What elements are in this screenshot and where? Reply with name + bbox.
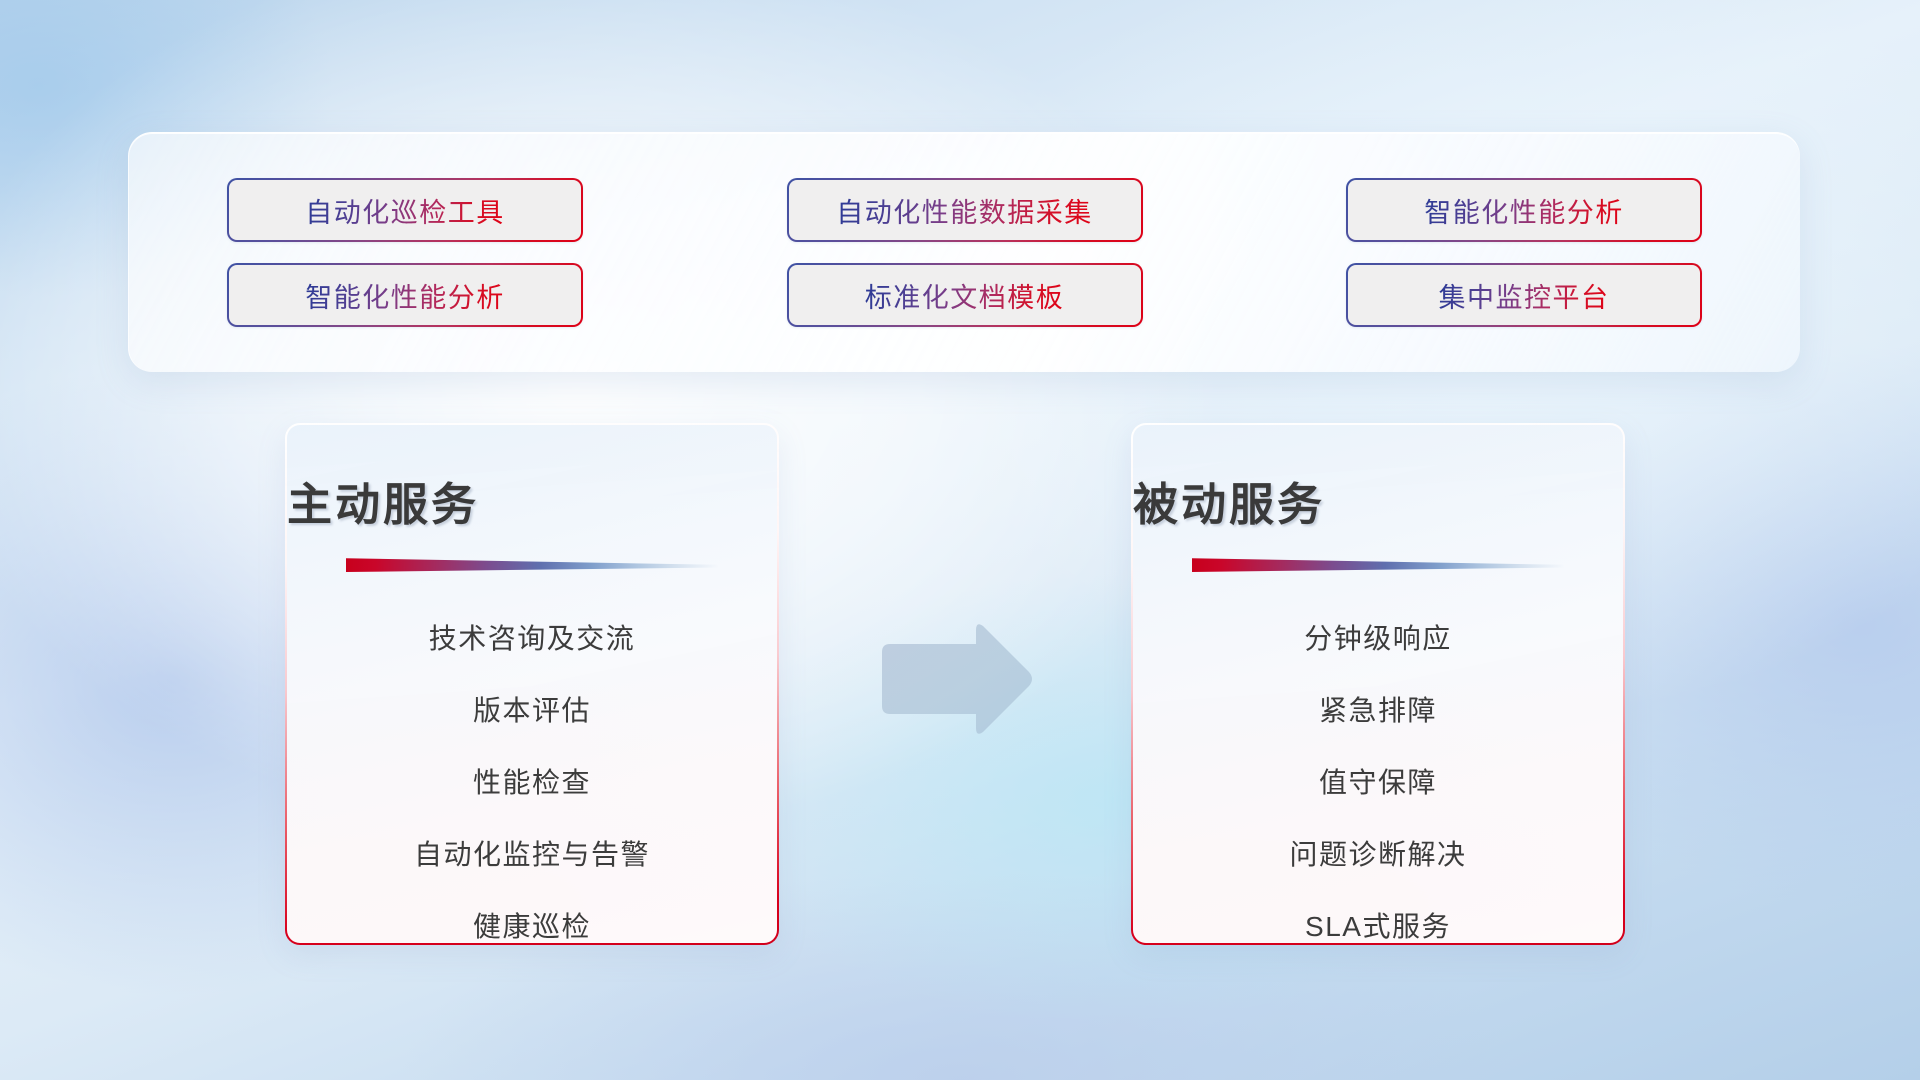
list-item: 健康巡检 bbox=[473, 891, 591, 945]
card-divider bbox=[1192, 557, 1564, 572]
card-divider-bar bbox=[346, 557, 718, 572]
capability-pill-intelligent-performance-analysis-2[interactable]: 智能化性能分析 bbox=[227, 263, 583, 327]
right-arrow-icon bbox=[872, 620, 1034, 738]
list-item: 值守保障 bbox=[1319, 747, 1437, 819]
list-item: 问题诊断解决 bbox=[1289, 819, 1466, 891]
capability-pill-label: 集中监控平台 bbox=[1439, 276, 1610, 315]
capability-row-2: 智能化性能分析 标准化文档模板 集中监控平台 bbox=[129, 263, 1800, 327]
service-card-passive: 被动服务 分钟级响应 紧急排障 值守保障 问题诊断解决 SLA式服务 bbox=[1131, 423, 1625, 945]
capability-pill-intelligent-performance-analysis[interactable]: 智能化性能分析 bbox=[1346, 178, 1702, 242]
capability-panel: 自动化巡检工具 自动化性能数据采集 智能化性能分析 智能化性能分析 标准化文档模… bbox=[128, 132, 1800, 372]
card-divider-bar bbox=[1192, 557, 1564, 572]
list-item: SLA式服务 bbox=[1305, 891, 1451, 945]
capability-pill-label: 智能化性能分析 bbox=[1424, 191, 1624, 230]
list-item: 性能检查 bbox=[473, 747, 591, 819]
card-divider bbox=[346, 557, 718, 572]
service-list-passive: 分钟级响应 紧急排障 值守保障 问题诊断解决 SLA式服务 bbox=[1133, 603, 1623, 945]
capability-row-1: 自动化巡检工具 自动化性能数据采集 智能化性能分析 bbox=[129, 178, 1800, 242]
card-title: 被动服务 bbox=[1133, 468, 1325, 533]
service-card-active: 主动服务 技术咨询及交流 版本评估 性能检查 自动化监控与告警 健康巡检 bbox=[285, 423, 779, 945]
capability-pill-label: 智能化性能分析 bbox=[305, 276, 505, 315]
capability-pill-label: 自动化性能数据采集 bbox=[836, 191, 1093, 230]
service-list-active: 技术咨询及交流 版本评估 性能检查 自动化监控与告警 健康巡检 bbox=[287, 603, 777, 945]
capability-pill-label: 标准化文档模板 bbox=[865, 276, 1065, 315]
card-title: 主动服务 bbox=[287, 468, 479, 533]
list-item: 紧急排障 bbox=[1319, 675, 1437, 747]
list-item: 自动化监控与告警 bbox=[414, 819, 650, 891]
list-item: 版本评估 bbox=[473, 675, 591, 747]
capability-pill-standardized-document-template[interactable]: 标准化文档模板 bbox=[787, 263, 1143, 327]
capability-pill-label: 自动化巡检工具 bbox=[305, 191, 505, 230]
capability-pill-automated-inspection-tool[interactable]: 自动化巡检工具 bbox=[227, 178, 583, 242]
list-item: 分钟级响应 bbox=[1304, 603, 1452, 675]
capability-pill-centralized-monitoring-platform[interactable]: 集中监控平台 bbox=[1346, 263, 1702, 327]
capability-pill-automated-performance-data-collection[interactable]: 自动化性能数据采集 bbox=[787, 178, 1143, 242]
list-item: 技术咨询及交流 bbox=[429, 603, 636, 675]
